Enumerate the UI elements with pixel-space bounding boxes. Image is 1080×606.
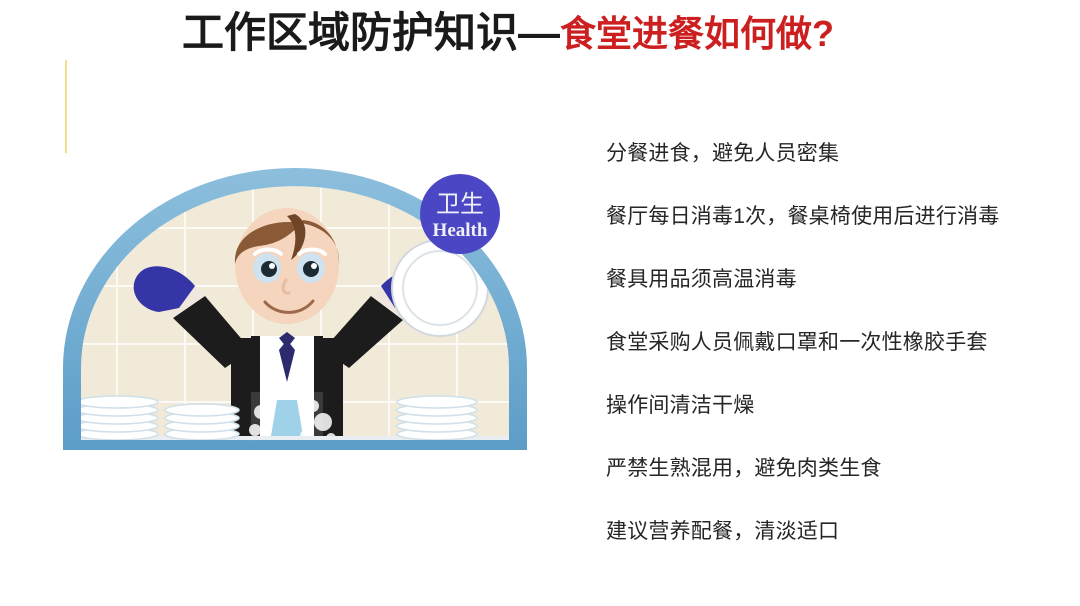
slide-root: 工作区域防护知识—食堂进餐如何做?: [0, 0, 1080, 606]
guideline-line: 建议营养配餐，清淡适口: [606, 521, 1076, 542]
health-badge: 卫生 Health: [420, 174, 500, 254]
guideline-line: 分餐进食，避免人员密集: [606, 143, 1076, 164]
page-title-main: 工作区域防护知识: [182, 12, 518, 54]
plate-stack-middle: [165, 404, 239, 440]
guideline-line: 食堂采购人员佩戴口罩和一次性橡胶手套: [606, 332, 1076, 353]
guideline-line: 餐具用品须高温消毒: [606, 269, 1076, 290]
guideline-line: 餐厅每日消毒1次，餐桌椅使用后进行消毒: [606, 206, 1076, 227]
guideline-line: 严禁生熟混用，避免肉类生食: [606, 458, 1076, 479]
head: [235, 208, 339, 324]
accent-vertical-rule: [65, 60, 67, 153]
plate-stack-right: [397, 396, 477, 440]
page-title-accent: 食堂进餐如何做?: [560, 16, 834, 52]
guideline-line: 操作间清洁干燥: [606, 395, 1076, 416]
illustration-canteen-worker: 卫生 Health: [55, 168, 535, 460]
guidelines-list: 分餐进食，避免人员密集 餐厅每日消毒1次，餐桌椅使用后进行消毒 餐具用品须高温消…: [606, 143, 1076, 542]
health-badge-label-cn: 卫生: [436, 191, 484, 218]
page-title-dash: —: [518, 12, 560, 54]
illustration-svg: 卫生 Health: [55, 168, 535, 460]
plate-stack-left: [76, 396, 158, 440]
page-title: 工作区域防护知识—食堂进餐如何做?: [182, 12, 834, 54]
health-badge-label-en: Health: [433, 220, 488, 241]
